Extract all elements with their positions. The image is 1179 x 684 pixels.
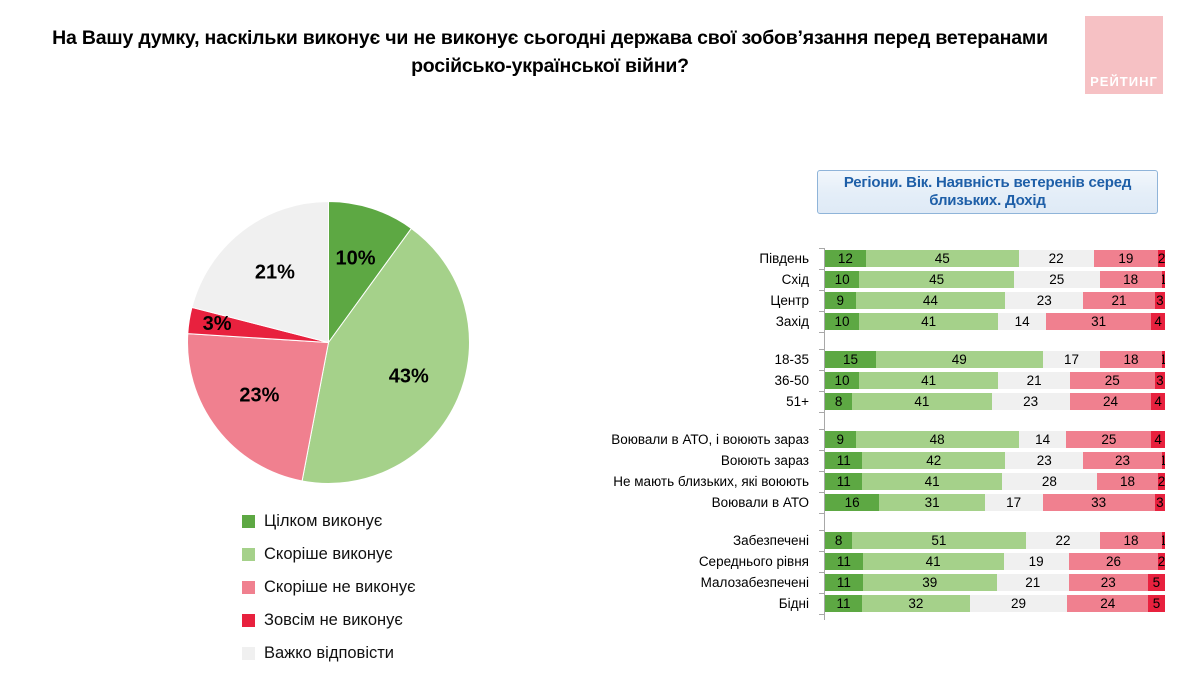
legend-swatch-icon (242, 647, 255, 660)
axis-tick (819, 614, 824, 620)
axis-tick (819, 513, 824, 530)
bar-segment: 31 (1046, 313, 1151, 330)
pie-slice-label: 43% (389, 365, 429, 387)
bar-segment: 45 (866, 250, 1019, 267)
axis-tick (819, 429, 824, 450)
bar-group-3: Воювали в АТО, і воюють зараз94814254Вою… (560, 429, 1165, 513)
stacked-bar: 94423213 (825, 292, 1165, 309)
bar-row-label: Середнього рівня (560, 554, 819, 569)
legend-item-label: Важко відповісти (264, 644, 394, 663)
stacked-bar: 104121253 (825, 372, 1165, 389)
bar-segment: 21 (1083, 292, 1154, 309)
axis-tick (819, 349, 824, 370)
axis-tick (819, 290, 824, 311)
bar-segment: 1 (1162, 532, 1165, 549)
bar-segment: 18 (1100, 271, 1162, 288)
bar-segment: 9 (825, 292, 856, 309)
axis-tick (819, 492, 824, 513)
bar-segment: 26 (1069, 553, 1158, 570)
bar-row-label: Малозабезпечені (560, 575, 819, 590)
bar-segment: 41 (859, 372, 998, 389)
bar-segment: 18 (1097, 473, 1158, 490)
rating-logo: РЕЙТИНГ (1085, 16, 1163, 94)
bar-row-label: 18-35 (560, 352, 819, 367)
axis-tick (819, 593, 824, 614)
bar-segment: 24 (1067, 595, 1148, 612)
bar-segment: 39 (863, 574, 997, 591)
bar-row: Середнього рівня114119262 (560, 551, 1165, 572)
bar-segment: 5 (1148, 574, 1165, 591)
bar-segment: 45 (859, 271, 1014, 288)
bar-row: Воюють зараз114223231 (560, 450, 1165, 471)
bar-segment: 23 (1083, 452, 1161, 469)
stacked-bar: 113229245 (825, 595, 1165, 612)
bar-segment: 1 (1162, 452, 1165, 469)
bar-segment: 22 (1019, 250, 1094, 267)
stacked-bar: 104525181 (825, 271, 1165, 288)
stacked-bar: 104114314 (825, 313, 1165, 330)
pie-chart-svg: 10%43%23%3%21% (186, 200, 471, 485)
breakdown-panel-title: Регіони. Вік. Наявність ветеренів серед … (818, 174, 1157, 210)
stacked-bar: 114128182 (825, 473, 1165, 490)
bar-segment: 19 (1004, 553, 1069, 570)
axis-tick (819, 332, 824, 349)
spacer-fill (825, 513, 1165, 530)
breakdown-panel-header: Регіони. Вік. Наявність ветеренів серед … (817, 170, 1158, 214)
axis-tick (819, 248, 824, 269)
bar-segment: 22 (1026, 532, 1101, 549)
bar-group-4: Забезпечені85122181Середнього рівня11411… (560, 530, 1165, 614)
bar-segment: 49 (876, 351, 1043, 368)
bar-segment: 1 (1162, 351, 1165, 368)
axis-tick (819, 471, 824, 492)
bar-segment: 23 (1005, 292, 1083, 309)
bar-row-label: 36-50 (560, 373, 819, 388)
stacked-bar: 124522192 (825, 250, 1165, 267)
pie-slice-label: 21% (255, 262, 295, 284)
bar-row-label: Південь (560, 251, 819, 266)
page-title: На Вашу думку, наскільки виконує чи не в… (40, 24, 1060, 80)
legend-item-label: Скоріше не виконує (264, 578, 416, 597)
bar-group-1: Південь124522192Схід104525181Центр944232… (560, 248, 1165, 332)
stacked-bar: 163117333 (825, 494, 1165, 511)
bar-segment: 11 (825, 574, 863, 591)
bar-segment: 4 (1151, 313, 1165, 330)
bar-row: Бідні113229245 (560, 593, 1165, 614)
spacer-label (560, 614, 819, 620)
spacer-label (560, 513, 819, 530)
stacked-bar: 114223231 (825, 452, 1165, 469)
bar-row: Центр94423213 (560, 290, 1165, 311)
axis-tick (819, 391, 824, 412)
spacer-label (560, 412, 819, 429)
bar-segment: 18 (1100, 351, 1161, 368)
group-spacer (560, 412, 1165, 429)
bar-row-label: Захід (560, 314, 819, 329)
stacked-bar: 84123244 (825, 393, 1165, 410)
bar-segment: 3 (1155, 372, 1165, 389)
bar-segment: 10 (825, 372, 859, 389)
bar-segment: 25 (1014, 271, 1100, 288)
bar-segment: 9 (825, 431, 856, 448)
axis-tick (819, 269, 824, 290)
bar-segment: 2 (1158, 553, 1165, 570)
pie-chart: 10%43%23%3%21% (186, 200, 471, 485)
bar-segment: 31 (879, 494, 984, 511)
bar-segment: 3 (1155, 494, 1165, 511)
bar-row-label: Воюють зараз (560, 453, 819, 468)
bar-row-label: Центр (560, 293, 819, 308)
bar-segment: 8 (825, 532, 852, 549)
bar-segment: 4 (1151, 431, 1165, 448)
bar-segment: 41 (862, 473, 1001, 490)
bar-segment: 41 (863, 553, 1004, 570)
bar-segment: 17 (985, 494, 1043, 511)
axis-tick (819, 572, 824, 593)
bar-segment: 8 (825, 393, 852, 410)
legend-item-fully: Цілком виконує (242, 505, 542, 538)
spacer-label (560, 332, 819, 349)
bar-segment: 33 (1043, 494, 1155, 511)
chart-legend: Цілком виконуєСкоріше виконуєСкоріше не … (242, 505, 542, 670)
bar-segment: 12 (825, 250, 866, 267)
pie-slices (188, 202, 470, 484)
group-spacer (560, 614, 1165, 620)
bar-group-2: 18-3515491718136-5010412125351+84123244 (560, 349, 1165, 412)
bar-segment: 18 (1100, 532, 1161, 549)
bar-segment: 21 (997, 574, 1069, 591)
bar-row: 36-50104121253 (560, 370, 1165, 391)
axis-tick (819, 450, 824, 471)
bar-segment: 15 (825, 351, 876, 368)
axis-tick (819, 412, 824, 429)
legend-item-not_at_all: Зовсім не виконує (242, 604, 542, 637)
bar-segment: 5 (1148, 595, 1165, 612)
bar-segment: 3 (1155, 292, 1165, 309)
bar-segment: 11 (825, 553, 863, 570)
bar-row-label: Воювали в АТО, і воюють зараз (560, 432, 819, 447)
stacked-bar: 85122181 (825, 532, 1165, 549)
bar-row: 51+84123244 (560, 391, 1165, 412)
bar-row: Захід104114314 (560, 311, 1165, 332)
legend-item-label: Цілком виконує (264, 512, 382, 531)
bar-segment: 25 (1066, 431, 1151, 448)
bar-segment: 10 (825, 313, 859, 330)
bar-segment: 44 (856, 292, 1006, 309)
bar-segment: 28 (1002, 473, 1097, 490)
bar-segment: 16 (825, 494, 879, 511)
legend-item-rather: Скоріше виконує (242, 538, 542, 571)
bar-segment: 51 (852, 532, 1025, 549)
bar-segment: 19 (1094, 250, 1159, 267)
bar-row: Воювали в АТО, і воюють зараз94814254 (560, 429, 1165, 450)
bar-segment: 24 (1070, 393, 1152, 410)
bar-row: Південь124522192 (560, 248, 1165, 269)
group-spacer (560, 513, 1165, 530)
bar-segment: 21 (998, 372, 1069, 389)
group-spacer (560, 332, 1165, 349)
bar-row-label: Бідні (560, 596, 819, 611)
logo-text: РЕЙТИНГ (1090, 74, 1158, 89)
stacked-bar: 114119262 (825, 553, 1165, 570)
legend-swatch-icon (242, 581, 255, 594)
bar-row-label: Схід (560, 272, 819, 287)
pie-slice-label: 23% (239, 384, 279, 406)
bar-row: 18-35154917181 (560, 349, 1165, 370)
bar-row-label: Не мають близьких, які воюють (560, 474, 819, 489)
bar-row-label: Воювали в АТО (560, 495, 819, 510)
axis-tick (819, 311, 824, 332)
bar-segment: 32 (862, 595, 970, 612)
legend-swatch-icon (242, 614, 255, 627)
bar-segment: 23 (1069, 574, 1148, 591)
bar-row-label: 51+ (560, 394, 819, 409)
axis-tick (819, 530, 824, 551)
legend-item-label: Зовсім не виконує (264, 611, 403, 630)
stacked-bar: 113921235 (825, 574, 1165, 591)
bar-segment: 2 (1158, 250, 1165, 267)
bar-row: Схід104525181 (560, 269, 1165, 290)
bar-segment: 25 (1070, 372, 1155, 389)
bar-row: Не мають близьких, які воюють114128182 (560, 471, 1165, 492)
bar-row: Малозабезпечені113921235 (560, 572, 1165, 593)
bar-segment: 41 (859, 313, 998, 330)
bar-segment: 11 (825, 452, 862, 469)
legend-item-hard: Важко відповісти (242, 637, 542, 670)
bar-segment: 48 (856, 431, 1019, 448)
bar-segment: 10 (825, 271, 859, 288)
pie-slice-label: 10% (335, 248, 375, 270)
bar-segment: 14 (998, 313, 1046, 330)
breakdown-bar-chart: Південь124522192Схід104525181Центр944232… (560, 248, 1165, 620)
spacer-fill (825, 412, 1165, 429)
bar-segment: 23 (1005, 452, 1083, 469)
bar-segment: 14 (1019, 431, 1067, 448)
bar-segment: 11 (825, 473, 862, 490)
stacked-bar: 154917181 (825, 351, 1165, 368)
spacer-fill (825, 614, 1165, 620)
legend-swatch-icon (242, 548, 255, 561)
bar-row-label: Забезпечені (560, 533, 819, 548)
spacer-fill (825, 332, 1165, 349)
bar-segment: 29 (970, 595, 1068, 612)
legend-swatch-icon (242, 515, 255, 528)
axis-tick (819, 551, 824, 572)
pie-slice-label: 3% (203, 313, 232, 335)
bar-segment: 1 (1162, 271, 1165, 288)
bar-segment: 4 (1151, 393, 1165, 410)
bar-segment: 2 (1158, 473, 1165, 490)
axis-tick (819, 370, 824, 391)
bar-row: Воювали в АТО163117333 (560, 492, 1165, 513)
stacked-bar: 94814254 (825, 431, 1165, 448)
bar-segment: 11 (825, 595, 862, 612)
bar-row: Забезпечені85122181 (560, 530, 1165, 551)
legend-item-rather_not: Скоріше не виконує (242, 571, 542, 604)
bar-segment: 17 (1043, 351, 1101, 368)
bar-segment: 42 (862, 452, 1005, 469)
bar-segment: 23 (992, 393, 1070, 410)
bar-segment: 41 (852, 393, 991, 410)
legend-item-label: Скоріше виконує (264, 545, 393, 564)
